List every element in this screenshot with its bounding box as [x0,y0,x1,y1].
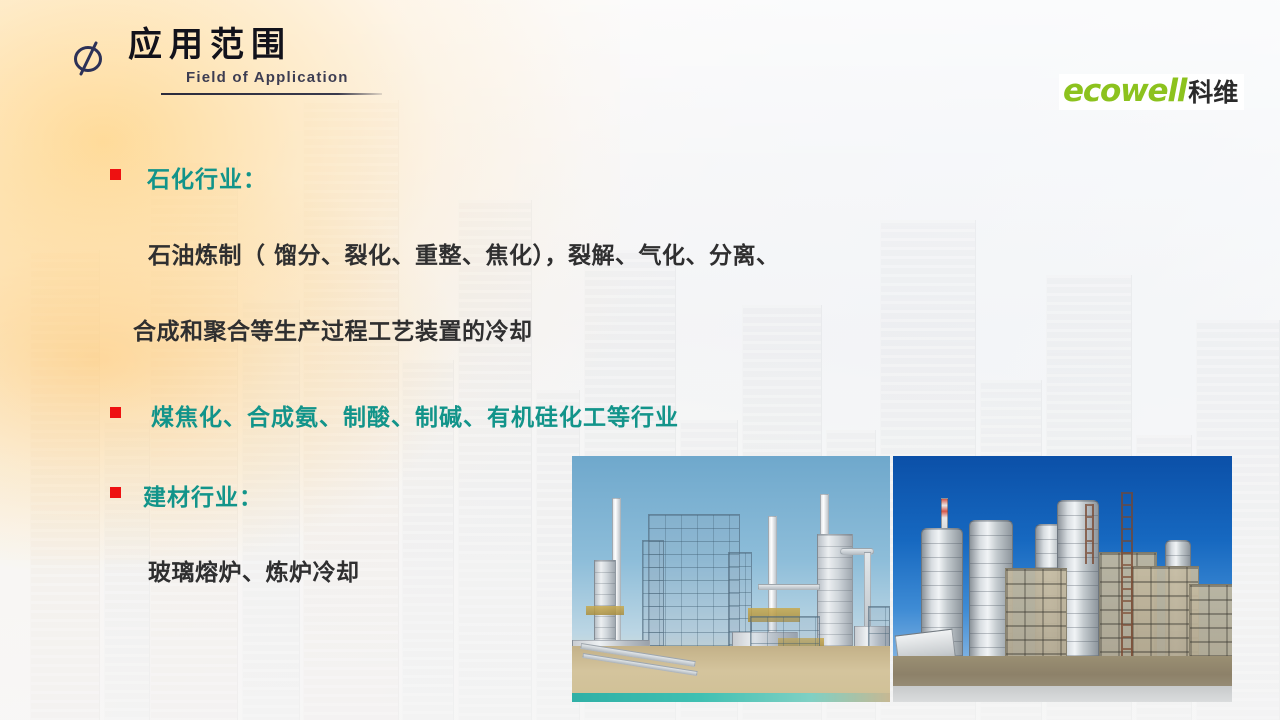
bullet-square-icon [110,169,121,180]
title-divider [161,93,382,95]
page-subtitle: Field of Application [186,69,382,86]
phi-slashed-circle-icon [68,34,110,80]
logo-chinese-text: 科维 [1188,80,1238,105]
list-item: 石油炼制（ 馏分、裂化、重整、焦化），裂解、气化、分离、 [148,236,780,270]
logo-english-text: ecowell [1063,76,1186,107]
list-item-label: 建材行业： [143,478,263,512]
list-item: 合成和聚合等生产过程工艺装置的冷却 [133,312,533,346]
list-item: 石化行业： [110,160,267,194]
ecowell-logo: ecowell 科维 [1059,74,1244,110]
page-title: 应用范围 [128,26,382,65]
list-item-label: 石油炼制（ 馏分、裂化、重整、焦化），裂解、气化、分离、 [148,236,780,270]
slide-root: 应用范围 Field of Application ecowell 科维 石化行… [0,0,1280,720]
list-item-label: 玻璃熔炉、炼炉冷却 [148,553,360,587]
list-item-label: 煤焦化、合成氨、制酸、制碱、有机硅化工等行业 [151,398,679,432]
petrochemical-refinery-photo [572,456,890,702]
industrial-plant-photo [893,456,1232,702]
list-item: 建材行业： [110,478,263,512]
bullet-square-icon [110,487,121,498]
slide-header: 应用范围 Field of Application [68,26,382,95]
bullet-square-icon [110,407,121,418]
list-item-label: 合成和聚合等生产过程工艺装置的冷却 [133,312,533,346]
list-item-label: 石化行业： [147,160,267,194]
list-item: 煤焦化、合成氨、制酸、制碱、有机硅化工等行业 [110,398,679,432]
list-item: 玻璃熔炉、炼炉冷却 [148,553,360,587]
